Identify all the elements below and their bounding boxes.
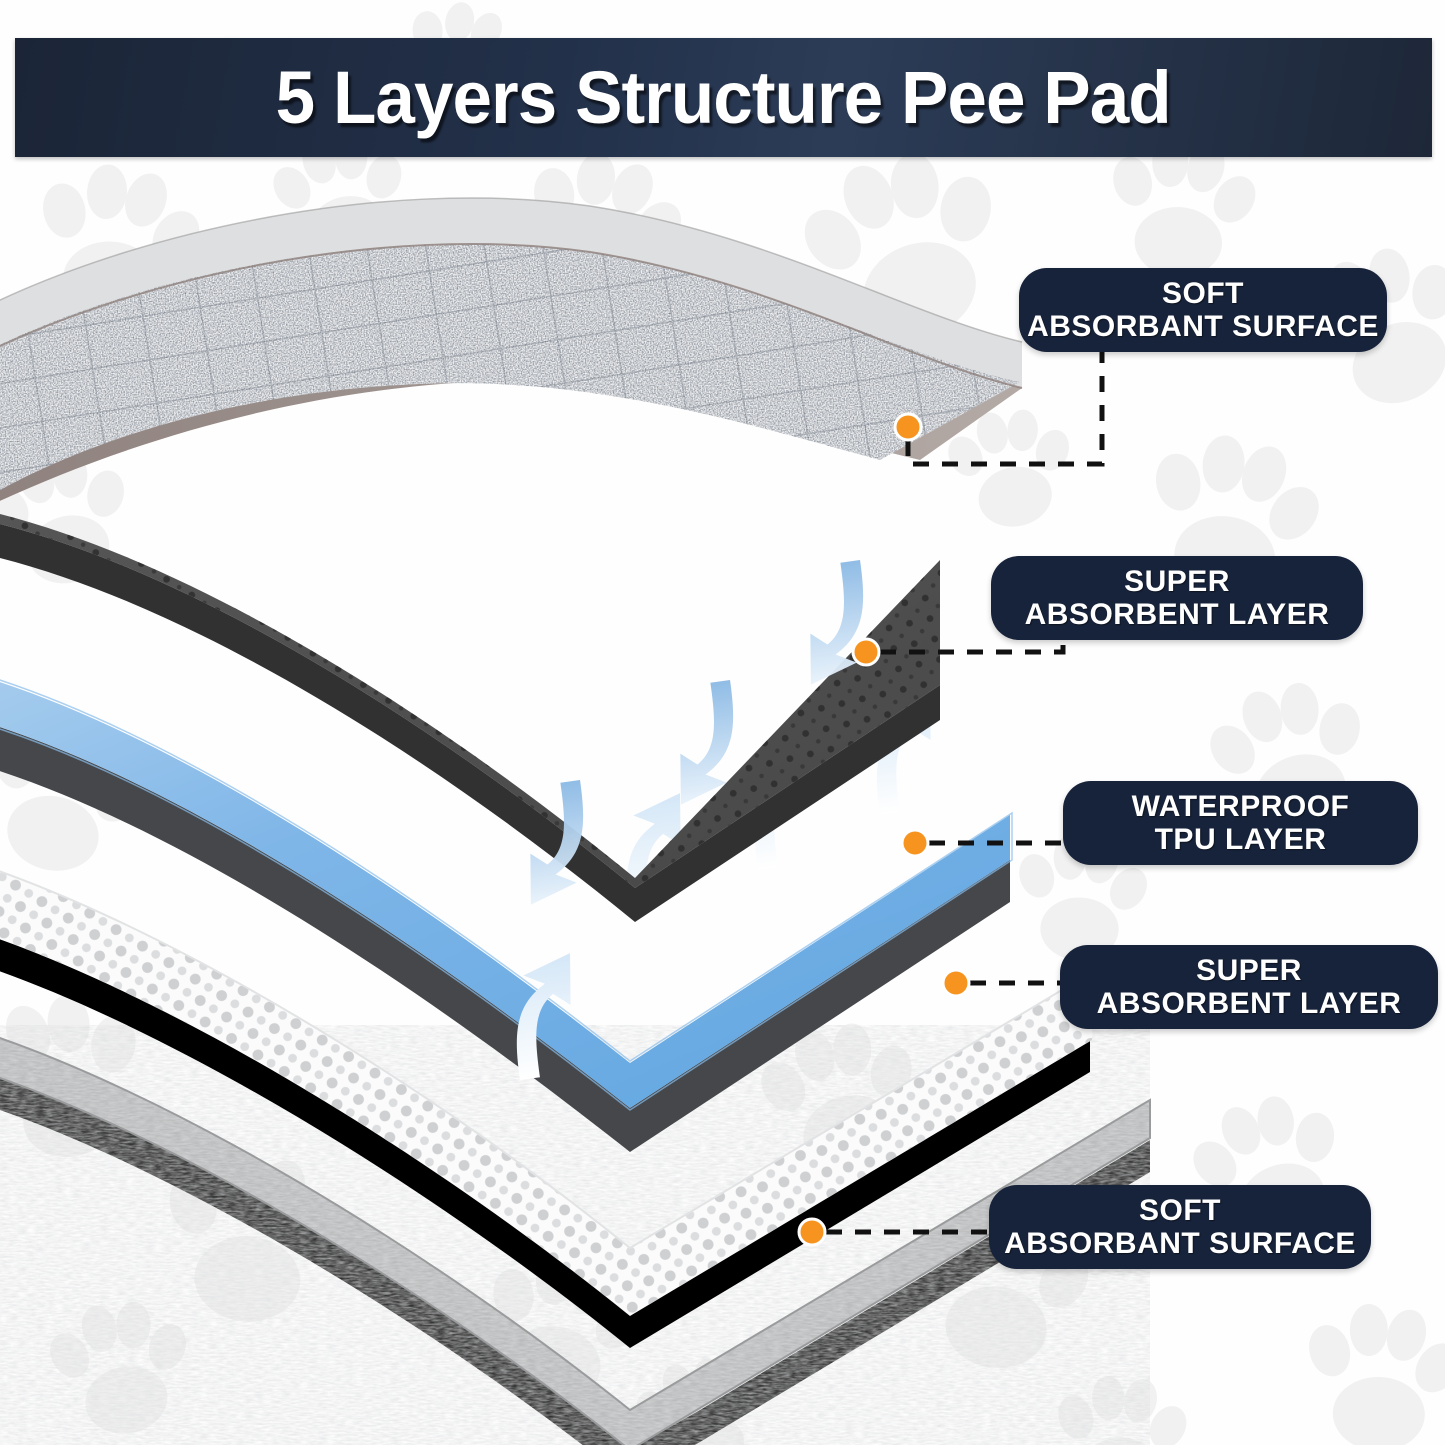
callout-line-1: SUPER	[1196, 954, 1302, 987]
layer-super-absorbent-upper	[0, 505, 940, 922]
infographic-root: 5 Layers Structure Pee Pad	[0, 0, 1445, 1445]
callout-line-2: ABSORBENT LAYER	[1025, 598, 1330, 631]
callout-line-1: SOFT	[1162, 277, 1244, 310]
callout-super-absorbent-layer-lower[interactable]: SUPER ABSORBENT LAYER	[1060, 945, 1438, 1029]
layer-soft-absorbant-surface-top	[0, 160, 1100, 560]
callout-super-absorbent-layer-upper[interactable]: SUPER ABSORBENT LAYER	[991, 556, 1363, 640]
callout-line-1: WATERPROOF	[1132, 790, 1350, 823]
callout-soft-absorbant-surface-top[interactable]: SOFT ABSORBANT SURFACE	[1019, 268, 1387, 352]
callout-waterproof-tpu-layer[interactable]: WATERPROOF TPU LAYER	[1063, 781, 1418, 865]
title-banner: 5 Layers Structure Pee Pad	[15, 38, 1432, 157]
callout-line-2: TPU LAYER	[1155, 823, 1327, 856]
page-title: 5 Layers Structure Pee Pad	[276, 61, 1171, 135]
callout-line-1: SOFT	[1139, 1194, 1221, 1227]
callout-line-2: ABSORBANT SURFACE	[1027, 310, 1379, 343]
callout-line-2: ABSORBANT SURFACE	[1004, 1227, 1356, 1260]
callout-soft-absorbant-surface-bottom[interactable]: SOFT ABSORBANT SURFACE	[989, 1185, 1371, 1269]
callout-line-1: SUPER	[1124, 565, 1230, 598]
callout-line-2: ABSORBENT LAYER	[1097, 987, 1402, 1020]
